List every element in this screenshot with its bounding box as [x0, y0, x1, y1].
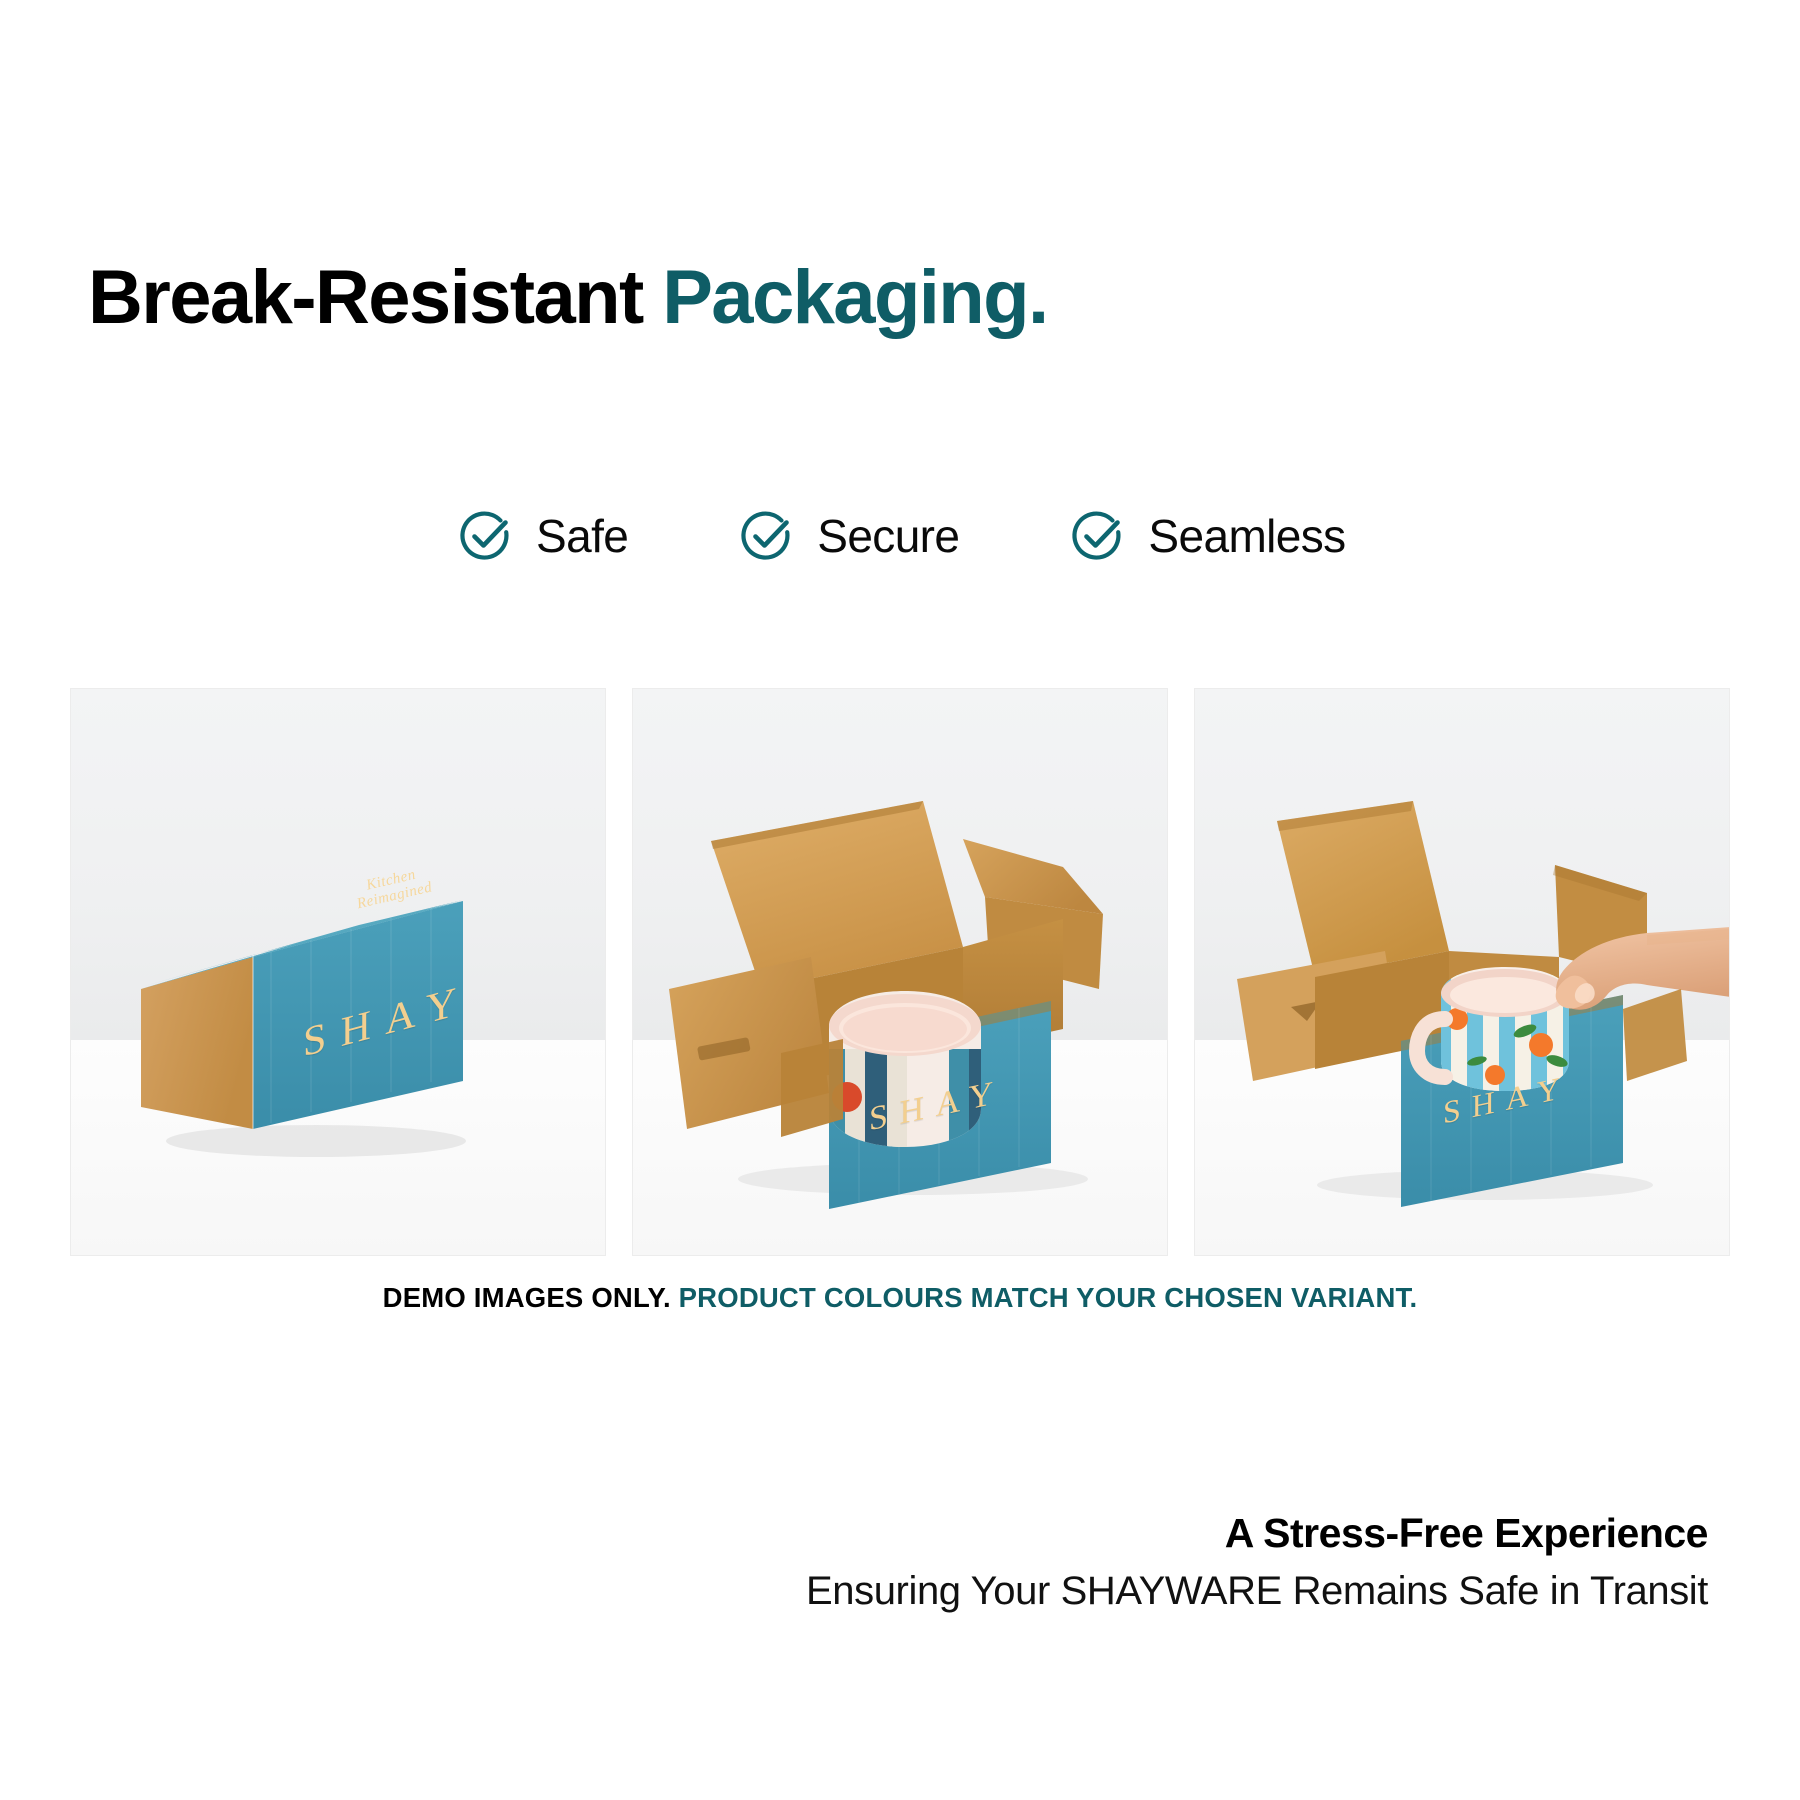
badge-label: Safe	[536, 513, 628, 559]
footer-block: A Stress-Free Experience Ensuring Your S…	[806, 1508, 1708, 1617]
badge-label: Seamless	[1148, 513, 1345, 559]
photo-open-box-with-mug: SHAY	[632, 688, 1168, 1256]
check-circle-icon	[1067, 505, 1129, 567]
packaging-infographic: Break-Resistant Packaging. Safe Secure	[0, 0, 1800, 1800]
photo-closed-box: Kitchen Reimagined SHAY	[70, 688, 606, 1256]
page-title: Break-Resistant Packaging.	[88, 258, 1047, 338]
badge-label: Secure	[817, 513, 959, 559]
mug-illustration	[823, 991, 987, 1159]
footer-subtitle: Ensuring Your SHAYWARE Remains Safe in T…	[806, 1565, 1708, 1617]
caption-accent: PRODUCT COLOURS MATCH YOUR CHOSEN VARIAN…	[679, 1282, 1418, 1313]
badge-seamless: Seamless	[1067, 505, 1345, 567]
badge-secure: Secure	[736, 505, 959, 567]
footer-title: A Stress-Free Experience	[806, 1508, 1708, 1559]
product-photo-strip: Kitchen Reimagined SHAY	[70, 688, 1730, 1256]
hand-placing-mug-illustration	[1195, 689, 1730, 1256]
badge-safe: Safe	[455, 505, 628, 567]
headline-primary: Break-Resistant	[88, 255, 662, 340]
check-circle-icon	[455, 505, 517, 567]
photo-hand-placing-mug: SHAY	[1194, 688, 1730, 1256]
feature-badge-row: Safe Secure Seamless	[455, 505, 1346, 567]
closed-box-illustration	[71, 689, 606, 1256]
check-circle-icon	[736, 505, 798, 567]
caption-primary: DEMO IMAGES ONLY.	[383, 1282, 671, 1313]
headline-accent: Packaging.	[662, 255, 1047, 340]
open-box-illustration	[633, 689, 1168, 1256]
disclaimer-caption: DEMO IMAGES ONLY. PRODUCT COLOURS MATCH …	[0, 1282, 1800, 1314]
